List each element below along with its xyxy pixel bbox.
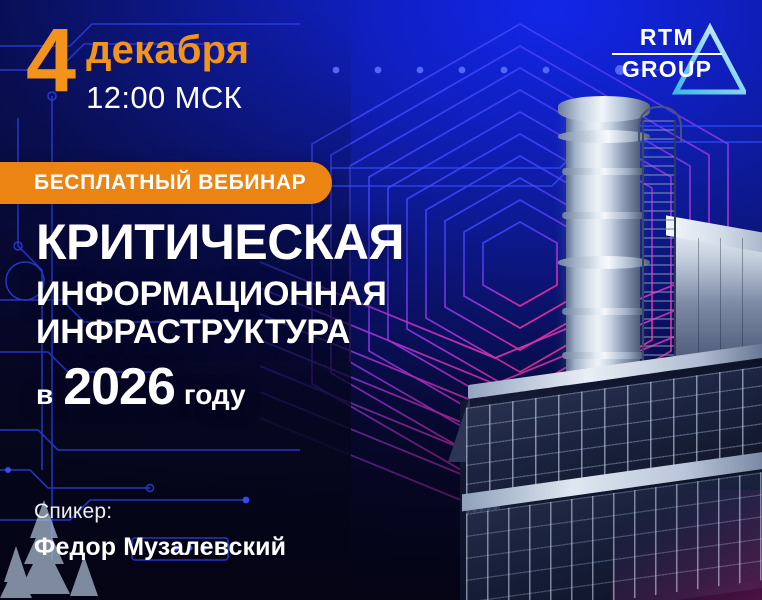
speaker-block: Спикер: Федор Музалевский bbox=[34, 500, 286, 562]
free-webinar-badge: БЕСПЛАТНЫЙ ВЕБИНАР bbox=[0, 162, 332, 204]
logo-divider bbox=[612, 53, 722, 55]
headline-line-1: КРИТИЧЕСКАЯ bbox=[36, 218, 596, 267]
badge-label: БЕСПЛАТНЫЙ ВЕБИНАР bbox=[34, 171, 306, 195]
event-time: 12:00 МСК bbox=[86, 82, 249, 113]
event-day-number: 4 bbox=[26, 22, 74, 101]
headline-year-word: году bbox=[184, 379, 246, 411]
headline-preposition: в bbox=[36, 379, 53, 411]
speaker-name: Федор Музалевский bbox=[34, 533, 286, 562]
speaker-label: Спикер: bbox=[34, 500, 286, 524]
rtm-group-logo[interactable]: RTM GROUP bbox=[606, 22, 746, 98]
logo-line-rtm: RTM bbox=[612, 26, 722, 49]
headline-line-4: в 2026 году bbox=[36, 357, 596, 417]
date-block: 4 декабря 12:00 МСК bbox=[26, 22, 249, 113]
poster-content: 4 декабря 12:00 МСК RTM bbox=[0, 0, 762, 600]
headline-block: КРИТИЧЕСКАЯ ИНФОРМАЦИОННАЯ ИНФРАСТРУКТУР… bbox=[36, 218, 596, 417]
headline-line-2: ИНФОРМАЦИОННАЯ bbox=[36, 275, 596, 313]
logo-wordmark: RTM GROUP bbox=[612, 26, 722, 81]
event-month: декабря bbox=[86, 30, 249, 70]
headline-line-3: ИНФРАСТРУКТУРА bbox=[36, 313, 596, 351]
webinar-poster: 4 декабря 12:00 МСК RTM bbox=[0, 0, 762, 600]
headline-year: 2026 bbox=[63, 357, 175, 417]
logo-line-group: GROUP bbox=[612, 58, 722, 81]
